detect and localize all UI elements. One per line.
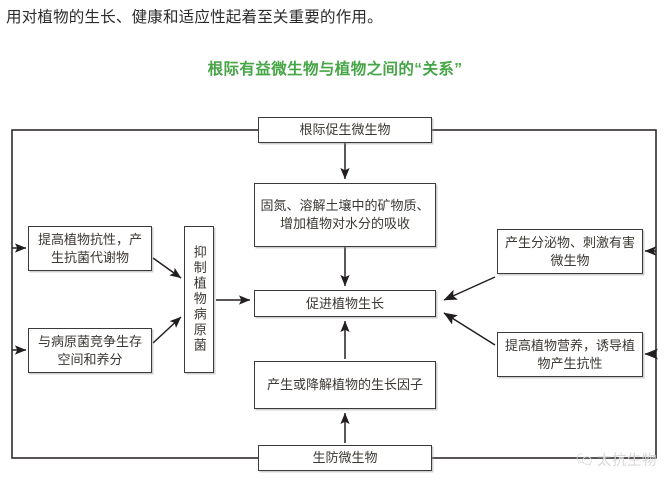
- node-left-bottom-label: 与病原菌竞争生存空间和养分: [29, 333, 151, 369]
- node-compete-pathogens[interactable]: 与病原菌竞争生存空间和养分: [28, 328, 152, 373]
- watermark-label: 太抗生物: [597, 449, 657, 470]
- node-right-top-label: 产生分泌物、刺激有害微生物: [498, 234, 642, 270]
- watermark: 太抗生物: [576, 449, 657, 470]
- node-secretions-stimulate[interactable]: 产生分泌物、刺激有害微生物: [497, 229, 643, 274]
- node-nutrient-function[interactable]: 固氮、溶解土壤中的矿物质、增加植物对水分的吸收: [254, 183, 436, 247]
- relationship-flowchart: 根际促生微生物 固氮、溶解土壤中的矿物质、增加植物对水分的吸收 促进植物生长 产…: [0, 100, 670, 489]
- node-growth-factor[interactable]: 产生或降解植物的生长因子: [254, 361, 436, 409]
- figure-title: 根际有益微生物与植物之间的“关系”: [0, 57, 670, 79]
- node-right-bottom-label: 提高植物营养，诱导植物产生抗性: [498, 337, 642, 373]
- node-rhizosphere-growth-promoting-microbes[interactable]: 根际促生微生物: [258, 117, 432, 143]
- node-left-top-label: 提高植物抗性，产生抗菌代谢物: [29, 231, 151, 267]
- node-improve-nutrition[interactable]: 提高植物营养，诱导植物产生抗性: [497, 332, 643, 377]
- node-growth-label: 产生或降解植物的生长因子: [262, 376, 428, 394]
- node-top-label: 根际促生微生物: [294, 121, 395, 139]
- node-inhibit-label: 抑制植物病原菌: [191, 245, 207, 354]
- wechat-icon: [576, 452, 593, 467]
- node-plant-resistance[interactable]: 提高植物抗性，产生抗菌代谢物: [28, 226, 152, 271]
- node-bottom-label: 生防微生物: [307, 449, 382, 467]
- node-biocontrol-microbes[interactable]: 生防微生物: [258, 445, 432, 471]
- node-inhibit-pathogens[interactable]: 抑制植物病原菌: [184, 226, 214, 373]
- intro-paragraph: 用对植物的生长、健康和适应性起着至关重要的作用。: [6, 7, 646, 29]
- node-promote-plant-growth[interactable]: 促进植物生长: [254, 290, 436, 317]
- node-nutrient-label: 固氮、溶解土壤中的矿物质、增加植物对水分的吸收: [255, 197, 435, 233]
- node-center-label: 促进植物生长: [301, 295, 389, 313]
